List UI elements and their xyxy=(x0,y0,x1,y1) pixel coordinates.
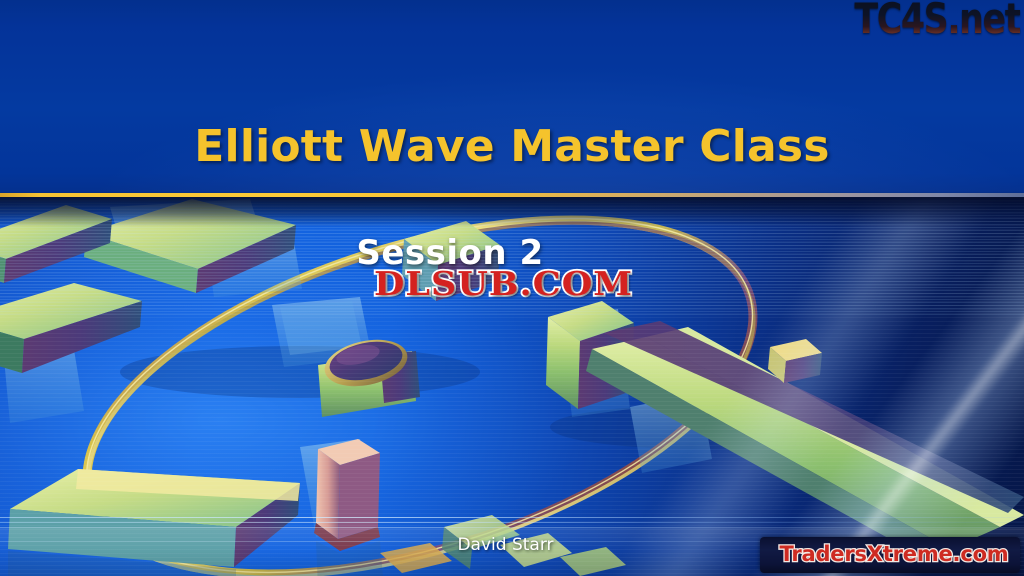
watermark-tradersxtreme: TradersXtreme.com xyxy=(770,542,1018,566)
watermark-tc4s: TC4S.net xyxy=(854,0,1020,40)
slide-title: Elliott Wave Master Class xyxy=(0,121,1024,172)
presentation-slide: TC4S.net Elliott Wave Master Class xyxy=(0,0,1024,576)
artwork-top-shadow xyxy=(0,197,1024,227)
watermark-dlsub: DLSUB.COM xyxy=(374,264,633,303)
